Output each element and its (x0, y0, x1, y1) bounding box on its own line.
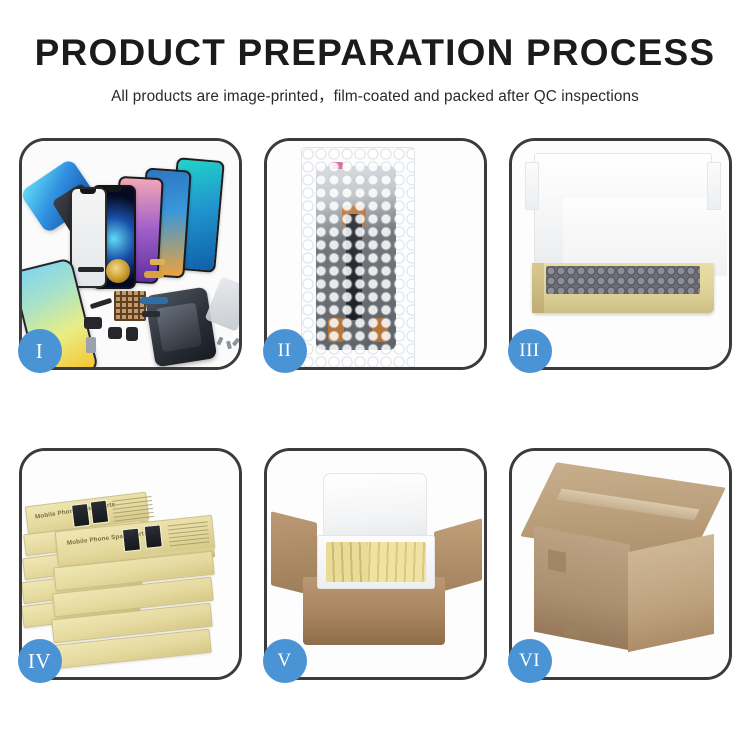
screws-icon (218, 337, 239, 355)
protector-notch-icon (80, 189, 96, 194)
connector-right-icon (372, 318, 388, 342)
step-panel-5[interactable]: V (264, 448, 487, 680)
step-panel-6[interactable]: VI (509, 448, 732, 680)
steps-row-top: I II (0, 138, 750, 370)
page-header: PRODUCT PREPARATION PROCESS All products… (0, 0, 750, 106)
carton-tab-upper (548, 549, 566, 572)
yellow-boxes-stack-side (326, 542, 368, 582)
connector-left-icon (328, 318, 344, 342)
sim-tray-icon (86, 337, 96, 353)
phone-notch-icon (106, 187, 122, 192)
box-screen-image-4 (143, 524, 162, 549)
step-panel-3[interactable]: III (509, 138, 732, 370)
camera-module-icon (108, 327, 122, 339)
step-panel-4[interactable]: Mobile Phone Spare Parts Mobil (19, 448, 242, 680)
step-panel-1[interactable]: I (19, 138, 242, 370)
step-badge-4: IV (18, 639, 62, 683)
tray-lip-icon (532, 263, 544, 313)
blue-flex-icon (140, 297, 168, 304)
step-panel-2[interactable]: II (264, 138, 487, 370)
box-screen-image-2 (89, 500, 109, 525)
page-title: PRODUCT PREPARATION PROCESS (0, 34, 750, 73)
qc-sticker-icon (332, 162, 343, 169)
step-badge-3: III (508, 329, 552, 373)
foam-lid-open (323, 473, 427, 541)
carton-side-face (628, 534, 714, 652)
dark-flex-icon (142, 311, 160, 317)
gold-connector-icon (144, 271, 164, 278)
flex-strip-icon (346, 214, 362, 320)
vibrator-icon (126, 327, 138, 341)
foam-inner-box (317, 535, 435, 589)
step-badge-1: I (18, 329, 62, 373)
kraft-tray (532, 263, 714, 313)
carton-tab-lower (564, 619, 582, 638)
speaker-icon (106, 259, 130, 283)
box-spec-lines-2 (167, 521, 209, 551)
step-badge-2: II (263, 329, 307, 373)
box-screen-image-1 (70, 503, 90, 528)
step-badge-6: VI (508, 639, 552, 683)
bubble-wrap-bag (301, 147, 415, 367)
small-part-icon (84, 317, 102, 329)
chip-array-icon (114, 291, 146, 321)
process-steps-grid: I II (0, 138, 750, 680)
white-foam-lid (534, 153, 712, 271)
box-screen-image-3 (121, 528, 140, 553)
bubble-wrapped-contents (546, 266, 700, 294)
gold-flex-icon (150, 259, 165, 265)
flex-cable-icon (78, 267, 104, 272)
steps-row-bottom: Mobile Phone Spare Parts Mobil (0, 448, 750, 680)
page-subtitle: All products are image-printed，film-coat… (0, 84, 750, 106)
step-badge-5: V (263, 639, 307, 683)
